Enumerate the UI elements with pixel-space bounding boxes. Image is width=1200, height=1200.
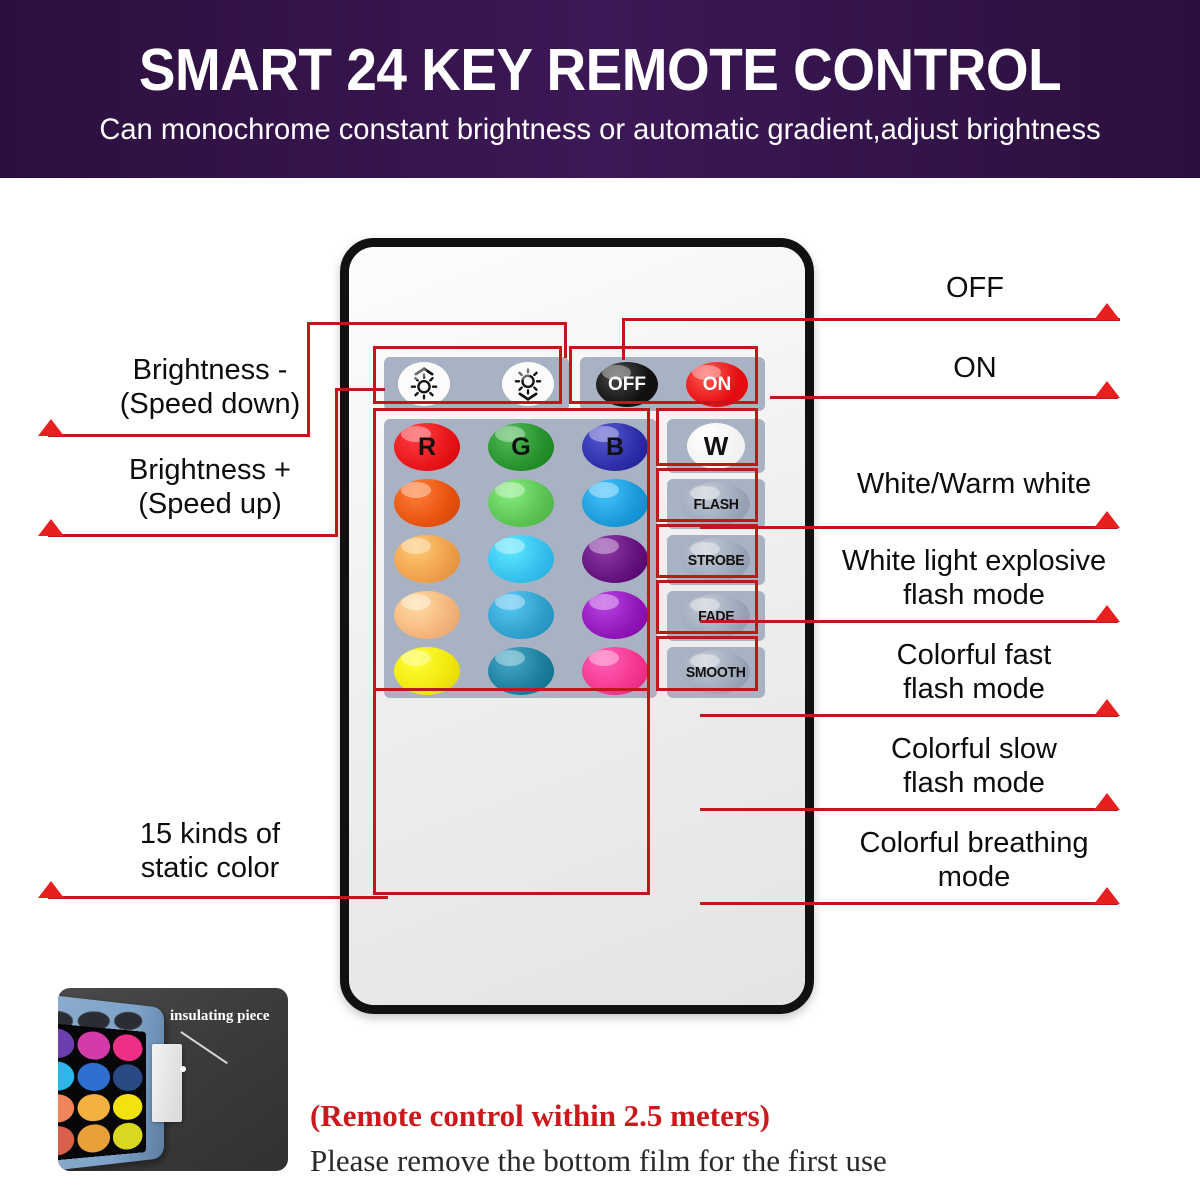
insulating-piece-photo: insulating piece	[58, 988, 288, 1171]
highlight-box-flash	[656, 468, 758, 522]
label-strobe-mode: Colorful fast flash mode	[818, 639, 1130, 706]
callout-line-smooth	[700, 902, 1118, 905]
highlight-box-brightness	[373, 346, 562, 404]
callout-line-brightness-up	[48, 534, 338, 537]
footer-note-distance: (Remote control within 2.5 meters)	[310, 1098, 1050, 1134]
highlight-box-fade	[656, 580, 758, 634]
page-subtitle: Can monochrome constant brightness or au…	[18, 113, 1182, 147]
callout-line-brightness-down	[48, 434, 310, 437]
label-static-color: 15 kinds of static color	[60, 818, 360, 885]
callout-arrow-brightness-up	[38, 519, 64, 536]
insulating-tab	[152, 1044, 182, 1122]
label-smooth-mode: Colorful breathing mode	[818, 827, 1130, 894]
highlight-box-strobe	[656, 524, 758, 578]
callout-line-static-color	[48, 896, 388, 899]
highlight-box-smooth	[656, 636, 758, 691]
callout-line-strobe	[700, 714, 1118, 717]
inset-leader-dot	[180, 1066, 186, 1072]
label-on: ON	[830, 352, 1120, 386]
inset-leader-line	[181, 1031, 228, 1064]
callout-arrow-white	[1094, 511, 1120, 528]
inset-key-grid	[58, 1018, 146, 1167]
callout-vline-brightness-down-drop	[564, 322, 567, 358]
callout-line-flash	[700, 620, 1118, 623]
highlight-box-white	[656, 408, 758, 466]
label-off: OFF	[830, 272, 1120, 306]
page-title: SMART 24 KEY REMOTE CONTROL	[42, 36, 1158, 104]
header-banner: SMART 24 KEY REMOTE CONTROL Can monochro…	[0, 0, 1200, 178]
label-brightness-down: Brightness - (Speed down)	[60, 354, 360, 421]
callout-line-on	[770, 396, 1118, 399]
callout-line-brightness-down-top	[307, 322, 567, 325]
footer-note-film: Please remove the bottom film for the fi…	[310, 1143, 1050, 1179]
label-flash-mode: White light explosive flash mode	[818, 545, 1130, 612]
inset-label: insulating piece	[170, 1008, 270, 1025]
highlight-box-power	[569, 346, 758, 404]
callout-line-off	[622, 318, 1120, 321]
callout-line-fade	[700, 808, 1118, 811]
label-white-warm-white: White/Warm white	[824, 468, 1124, 502]
label-brightness-up: Brightness + (Speed up)	[60, 454, 360, 521]
highlight-box-colors2	[373, 408, 650, 895]
callout-arrow-brightness-down	[38, 419, 64, 436]
callout-line-white	[700, 526, 1118, 529]
label-fade-mode: Colorful slow flash mode	[818, 733, 1130, 800]
